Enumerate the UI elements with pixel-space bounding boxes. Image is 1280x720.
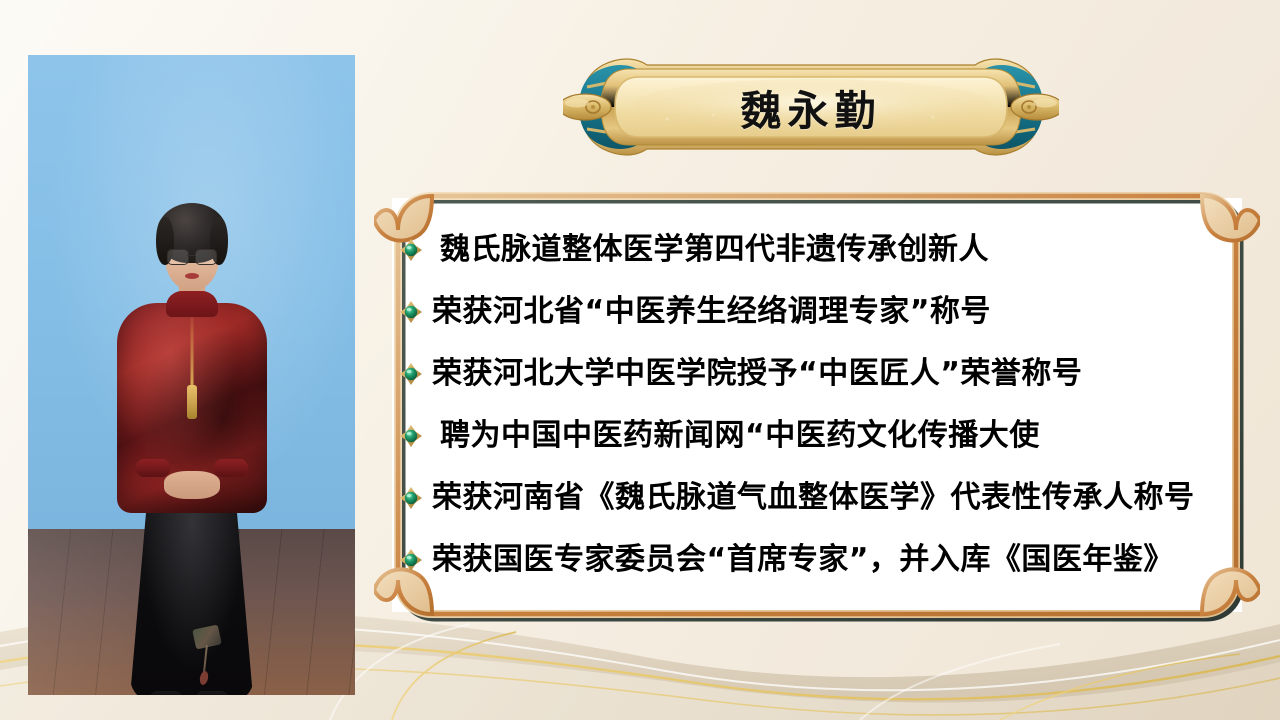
list-item: 荣获河南省《魏氏脉道气血整体医学》代表性传承人称号 — [400, 467, 1242, 529]
green-gem-bullet-icon — [400, 239, 422, 261]
list-item: 荣获河北大学中医学院授予“中医匠人”荣誉称号 — [400, 343, 1242, 405]
portrait-photo — [28, 55, 355, 695]
list-item-label: 荣获河北省“中医养生经络调理专家”称号 — [432, 297, 991, 327]
list-item: 荣获国医专家委员会“首席专家”，并入库《国医年鉴》 — [400, 529, 1242, 591]
banner-title-plaque: 魏永勤 — [563, 55, 1059, 159]
person-figure — [92, 203, 292, 695]
green-gem-bullet-icon — [400, 301, 422, 323]
list-item-label: 荣获河南省《魏氏脉道气血整体医学》代表性传承人称号 — [432, 483, 1195, 513]
list-item: 聘为中国中医药新闻网“中医药文化传播大使 — [400, 405, 1242, 467]
credentials-list: 魏氏脉道整体医学第四代非遗传承创新人 荣获河北省“中医养生经络调理专家”称号 — [396, 202, 1242, 608]
list-item-label: 魏氏脉道整体医学第四代非遗传承创新人 — [440, 235, 989, 265]
banner-title-text: 魏永勤 — [563, 55, 1059, 159]
list-item: 魏氏脉道整体医学第四代非遗传承创新人 — [400, 219, 1242, 281]
slide-canvas: 魏永勤 — [0, 0, 1280, 720]
list-item-label: 荣获河北大学中医学院授予“中医匠人”荣誉称号 — [432, 359, 1082, 389]
list-item-label: 聘为中国中医药新闻网“中医药文化传播大使 — [440, 421, 1040, 451]
list-item-label: 荣获国医专家委员会“首席专家”，并入库《国医年鉴》 — [432, 545, 1174, 575]
green-gem-bullet-icon — [400, 487, 422, 509]
list-item: 荣获河北省“中医养生经络调理专家”称号 — [400, 281, 1242, 343]
green-gem-bullet-icon — [400, 425, 422, 447]
green-gem-bullet-icon — [400, 363, 422, 385]
credentials-card: 魏氏脉道整体医学第四代非遗传承创新人 荣获河北省“中医养生经络调理专家”称号 — [374, 176, 1260, 634]
green-gem-bullet-icon — [400, 549, 422, 571]
